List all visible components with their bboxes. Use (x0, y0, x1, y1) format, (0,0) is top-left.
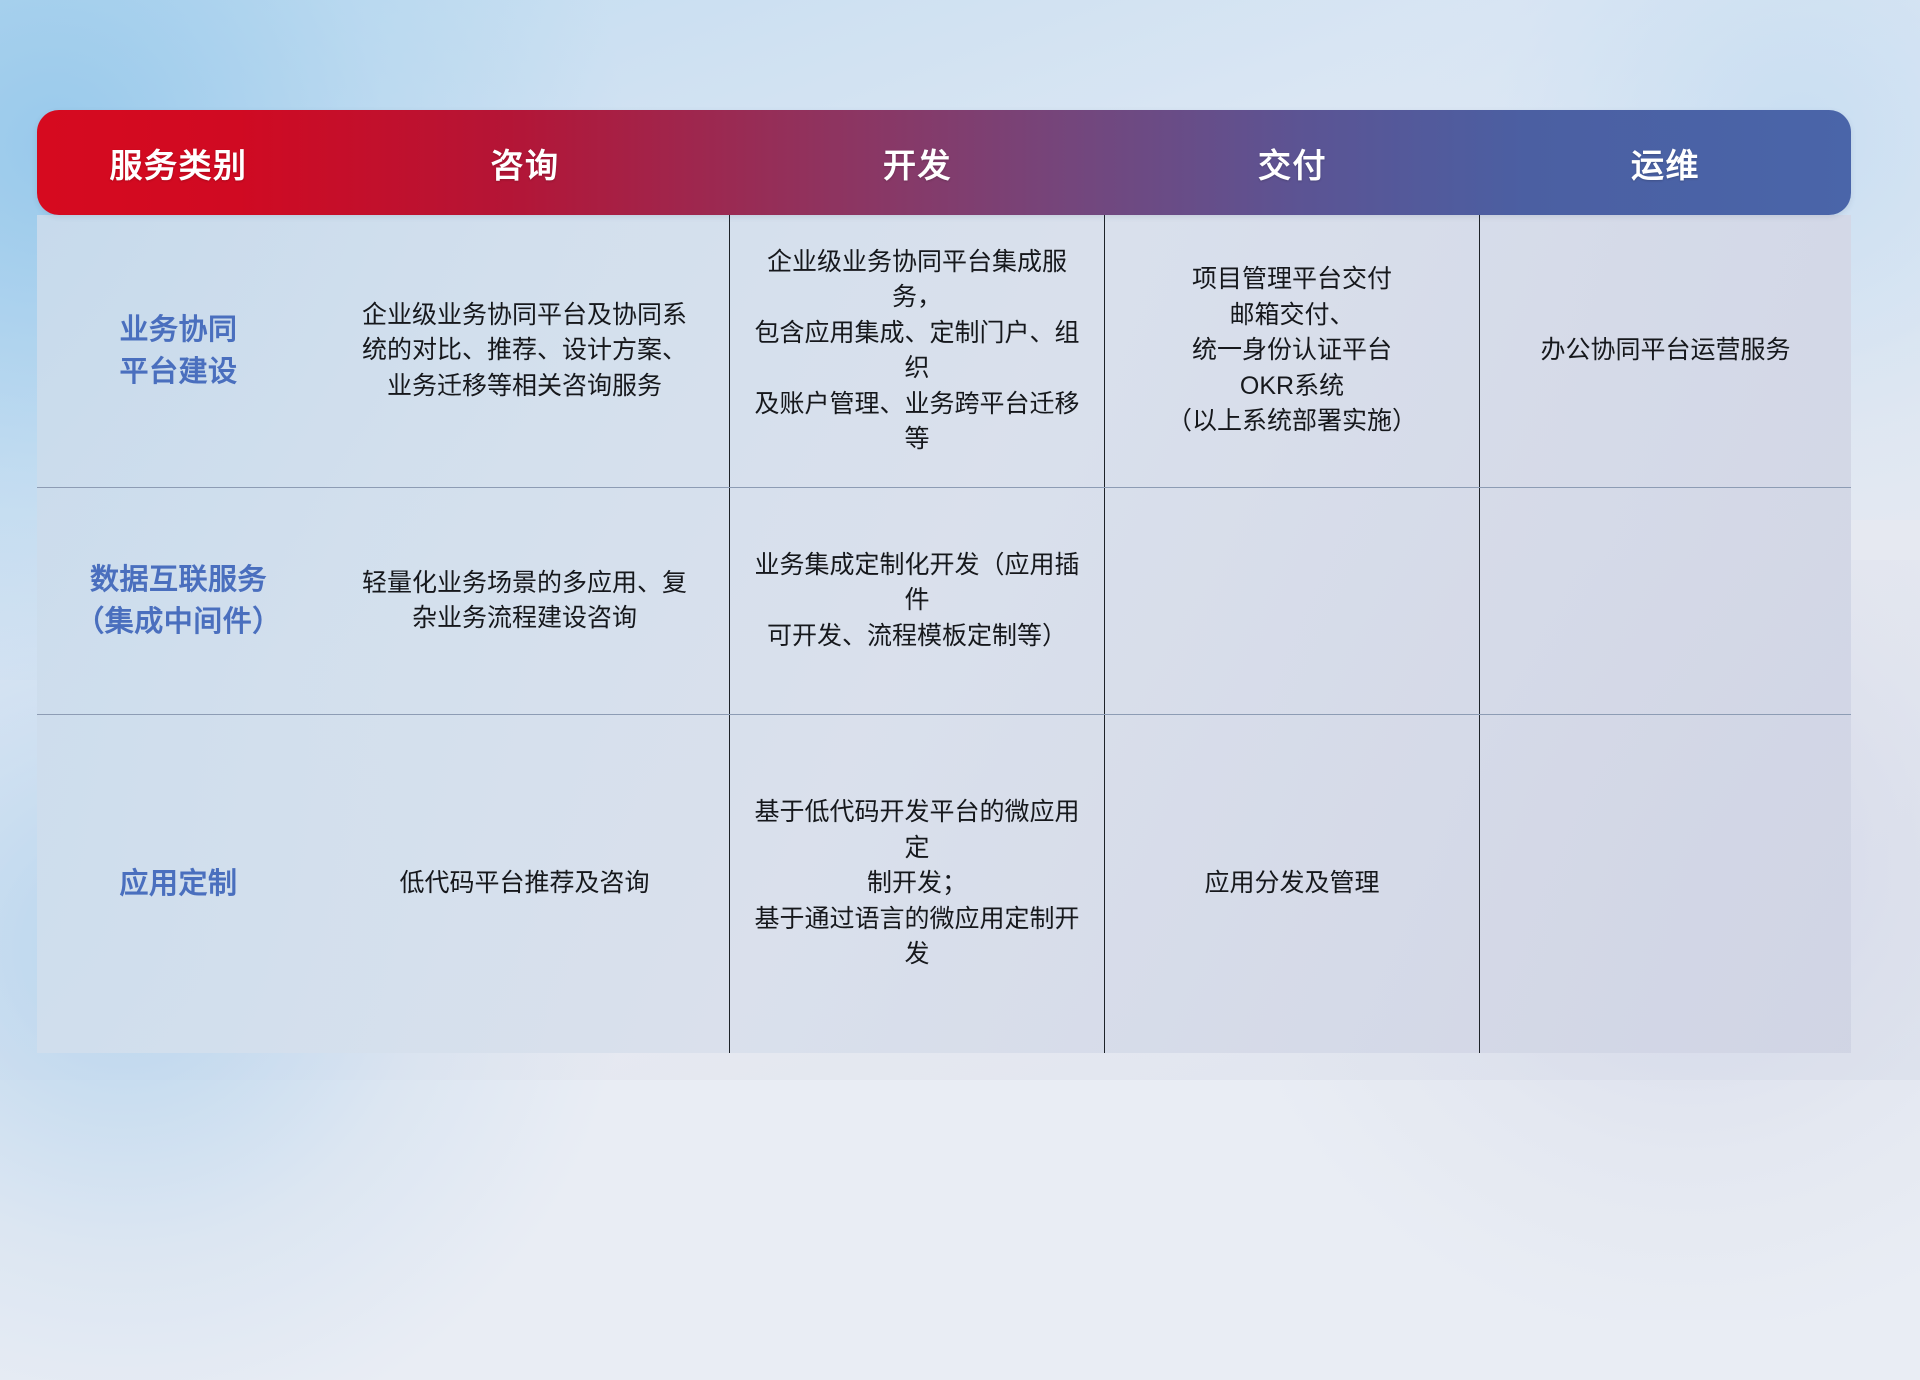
row-category-label: 应用定制 (37, 715, 320, 1053)
cell-delivery: 应用分发及管理 (1105, 715, 1480, 1053)
table-row: 数据互联服务 （集成中间件） 轻量化业务场景的多应用、复 杂业务流程建设咨询 业… (37, 488, 1851, 715)
cell-development: 业务集成定制化开发（应用插件 可开发、流程模板定制等） (730, 488, 1105, 714)
table-row: 业务协同 平台建设 企业级业务协同平台及协同系 统的对比、推荐、设计方案、 业务… (37, 215, 1851, 488)
cell-development: 基于低代码开发平台的微应用定 制开发； 基于通过语言的微应用定制开发 (730, 715, 1105, 1053)
column-header-consulting: 咨询 (320, 139, 730, 187)
cell-consulting: 低代码平台推荐及咨询 (320, 715, 730, 1053)
row-category-label: 业务协同 平台建设 (37, 215, 320, 487)
cell-consulting: 轻量化业务场景的多应用、复 杂业务流程建设咨询 (320, 488, 730, 714)
service-matrix-table: 业务协同 平台建设 企业级业务协同平台及协同系 统的对比、推荐、设计方案、 业务… (25, 110, 1825, 950)
table-row: 应用定制 低代码平台推荐及咨询 基于低代码开发平台的微应用定 制开发； 基于通过… (37, 715, 1851, 1053)
table-header-row: 服务类别 咨询 开发 交付 运维 (37, 110, 1851, 215)
cell-operations (1480, 715, 1851, 1053)
cell-operations: 办公协同平台运营服务 (1480, 215, 1851, 487)
cell-delivery (1105, 488, 1480, 714)
column-header-development: 开发 (730, 139, 1105, 187)
row-category-label: 数据互联服务 （集成中间件） (37, 488, 320, 714)
cell-development: 企业级业务协同平台集成服务， 包含应用集成、定制门户、组织 及账户管理、业务跨平… (730, 215, 1105, 487)
cell-delivery: 项目管理平台交付 邮箱交付、 统一身份认证平台 OKR系统 （以上系统部署实施） (1105, 215, 1480, 487)
cell-operations (1480, 488, 1851, 714)
column-header-delivery: 交付 (1105, 139, 1480, 187)
table-body: 业务协同 平台建设 企业级业务协同平台及协同系 统的对比、推荐、设计方案、 业务… (37, 215, 1851, 1053)
column-header-operations: 运维 (1480, 139, 1851, 187)
cell-consulting: 企业级业务协同平台及协同系 统的对比、推荐、设计方案、 业务迁移等相关咨询服务 (320, 215, 730, 487)
column-header-service-category: 服务类别 (37, 139, 320, 187)
